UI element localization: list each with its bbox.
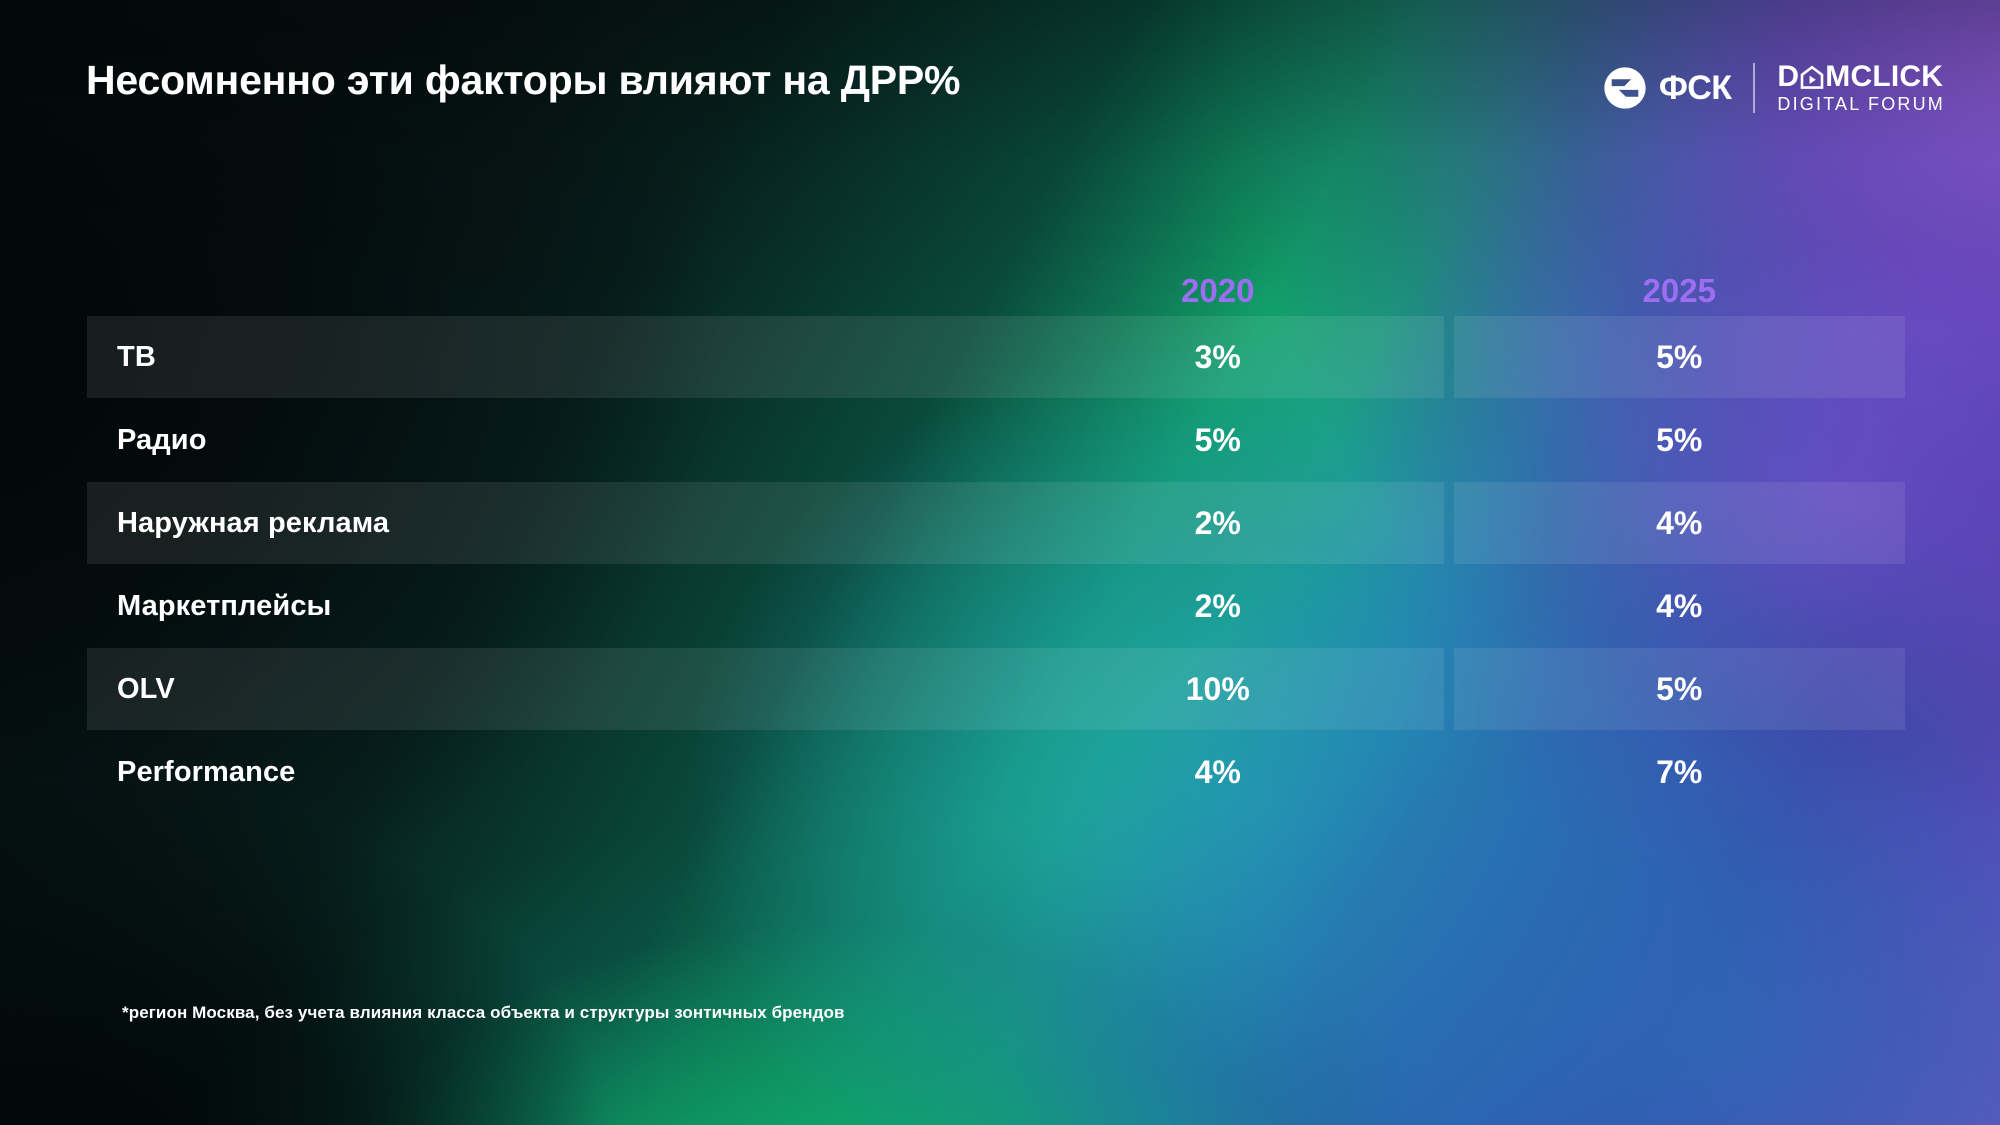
cell-2025: 4% (1454, 565, 1906, 647)
fsk-logo: ФСК (1603, 66, 1732, 110)
cell-2025: 4% (1454, 482, 1906, 564)
domclick-subtitle: DIGITAL FORUM (1777, 95, 1945, 113)
table-header-row: 2020 2025 (87, 240, 1905, 316)
table-row: Наружная реклама 2% 4% (87, 482, 1905, 564)
house-icon (1800, 65, 1824, 90)
fsk-circle-s-icon (1603, 66, 1647, 110)
table-row: ТВ 3% 5% (87, 316, 1905, 398)
row-label: Маркетплейсы (87, 565, 992, 647)
column-header-2020: 2020 (992, 272, 1444, 316)
domclick-letter-d: D (1777, 62, 1799, 92)
slide-canvas: Несомненно эти факторы влияют на ДРР% ФС… (0, 0, 2000, 1125)
cell-2020: 5% (992, 399, 1444, 481)
table-row: Радио 5% 5% (87, 399, 1905, 481)
row-label: Наружная реклама (87, 482, 992, 564)
cell-2020: 2% (992, 482, 1444, 564)
row-label: OLV (87, 648, 992, 730)
row-label: Радио (87, 399, 992, 481)
cell-2025: 5% (1454, 648, 1906, 730)
data-table: 2020 2025 ТВ 3% 5% Радио 5% 5% Наружная … (87, 240, 1905, 814)
logo-group: ФСК D MCLICK DIGITAL FORUM (1603, 62, 1945, 113)
table-row: OLV 10% 5% (87, 648, 1905, 730)
row-label: Performance (87, 731, 992, 813)
row-label: ТВ (87, 316, 992, 398)
cell-2025: 5% (1454, 399, 1906, 481)
table-row: Performance 4% 7% (87, 731, 1905, 813)
cell-2020: 10% (992, 648, 1444, 730)
domclick-letters-mclick: MCLICK (1825, 62, 1943, 92)
logo-divider (1753, 63, 1755, 113)
cell-2020: 3% (992, 316, 1444, 398)
cell-2025: 7% (1454, 731, 1906, 813)
cell-2020: 2% (992, 565, 1444, 647)
cell-2025: 5% (1454, 316, 1906, 398)
domclick-logo: D MCLICK DIGITAL FORUM (1777, 62, 1945, 113)
fsk-logo-text: ФСК (1659, 71, 1732, 105)
slide-header: Несомненно эти факторы влияют на ДРР% ФС… (0, 0, 2000, 160)
table-row: Маркетплейсы 2% 4% (87, 565, 1905, 647)
column-header-2025: 2025 (1454, 272, 1906, 316)
page-title: Несомненно эти факторы влияют на ДРР% (86, 57, 960, 104)
domclick-wordmark: D MCLICK (1777, 62, 1945, 92)
footnote: *регион Москва, без учета влияния класса… (122, 1003, 845, 1023)
cell-2020: 4% (992, 731, 1444, 813)
